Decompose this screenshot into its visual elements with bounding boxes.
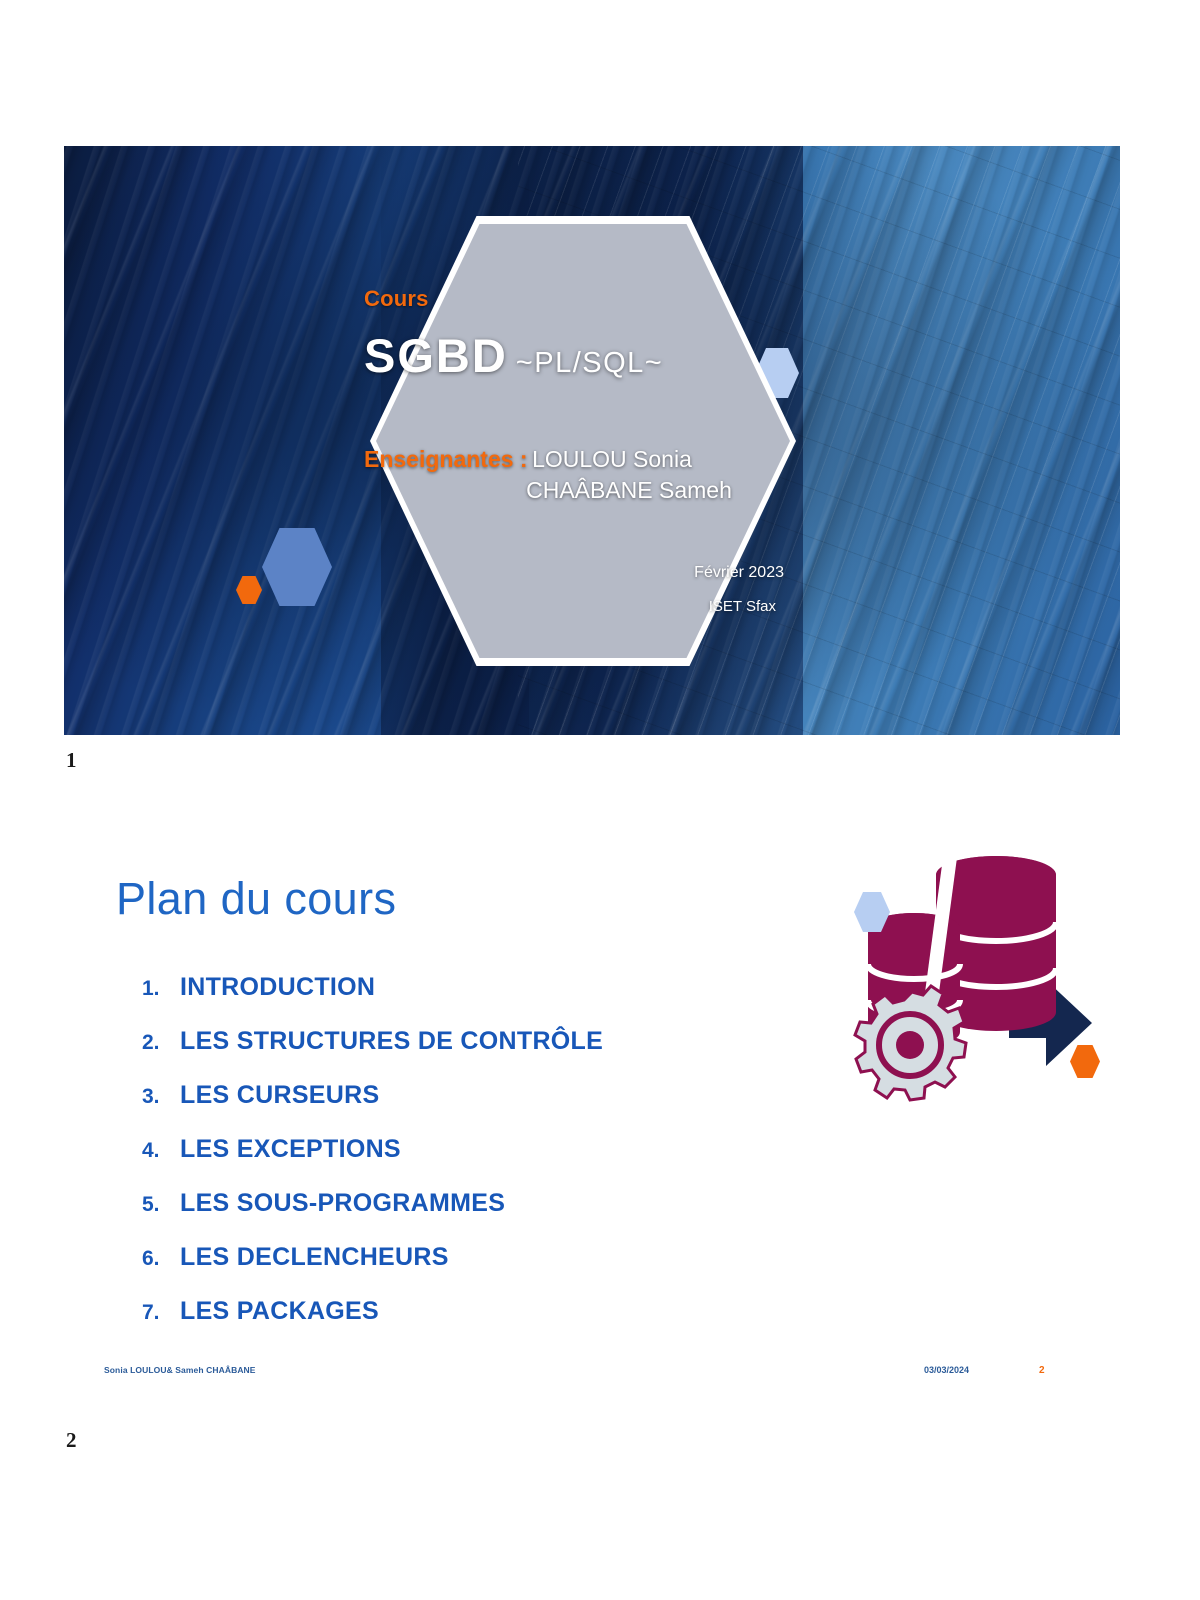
plan-slide: Plan du cours 1. INTRODUCTION 2. LES STR…	[64, 795, 1120, 1395]
list-item-number: 2.	[142, 1031, 180, 1055]
list-item-number: 4.	[142, 1139, 180, 1163]
list-item[interactable]: 3. LES CURSEURS	[142, 1081, 782, 1110]
institution-name: ISET Sfax	[494, 598, 784, 615]
list-item-number: 5.	[142, 1193, 180, 1217]
page-title: Plan du cours	[116, 873, 396, 925]
list-item-label: INTRODUCTION	[180, 973, 375, 1002]
list-item[interactable]: 2. LES STRUCTURES DE CONTRÔLE	[142, 1027, 782, 1056]
handout-page: Cours SGBD~PL/SQL~ Enseignantes : LOULOU…	[0, 0, 1200, 1600]
course-date: Février 2023	[494, 564, 784, 582]
list-item-label: LES STRUCTURES DE CONTRÔLE	[180, 1027, 603, 1056]
course-title-sub: ~PL/SQL~	[516, 347, 663, 379]
list-item[interactable]: 1. INTRODUCTION	[142, 973, 782, 1002]
list-item[interactable]: 7. LES PACKAGES	[142, 1297, 782, 1326]
list-item-label: LES SOUS-PROGRAMMES	[180, 1189, 505, 1218]
course-title: SGBD~PL/SQL~	[364, 328, 844, 383]
page-label-2: 2	[66, 1428, 77, 1453]
course-title-main: SGBD	[364, 329, 508, 382]
teachers-label: Enseignantes :	[364, 446, 528, 472]
teacher-name-1: LOULOU Sonia	[532, 446, 692, 472]
title-slide: Cours SGBD~PL/SQL~ Enseignantes : LOULOU…	[64, 146, 1120, 735]
list-item-label: LES DECLENCHEURS	[180, 1243, 449, 1272]
list-item-label: LES PACKAGES	[180, 1297, 379, 1326]
teacher-name-2: CHAÂBANE Sameh	[364, 477, 834, 504]
footer-authors: Sonia LOULOU& Sameh CHAÂBANE	[104, 1365, 256, 1375]
list-item-label: LES EXCEPTIONS	[180, 1135, 401, 1164]
slide-footer: Sonia LOULOU& Sameh CHAÂBANE 03/03/2024 …	[64, 1360, 1120, 1390]
list-item-label: LES CURSEURS	[180, 1081, 379, 1110]
footer-page-number: 2	[1039, 1365, 1045, 1376]
course-kicker: Cours	[364, 286, 844, 312]
list-item[interactable]: 5. LES SOUS-PROGRAMMES	[142, 1189, 782, 1218]
list-item[interactable]: 4. LES EXCEPTIONS	[142, 1135, 782, 1164]
list-item-number: 1.	[142, 977, 180, 1001]
slide-meta-block: Février 2023 ISET Sfax	[494, 564, 784, 615]
list-item-number: 3.	[142, 1085, 180, 1109]
page-label-1: 1	[66, 748, 77, 773]
title-block: Cours SGBD~PL/SQL~	[364, 286, 844, 383]
database-gear-arrow-illustration	[824, 840, 1104, 1105]
list-item-number: 6.	[142, 1247, 180, 1271]
list-item[interactable]: 6. LES DECLENCHEURS	[142, 1243, 782, 1272]
database-illustration-svg	[824, 840, 1104, 1105]
teachers-block: Enseignantes : LOULOU Sonia CHAÂBANE Sam…	[364, 446, 834, 504]
list-item-number: 7.	[142, 1301, 180, 1325]
footer-date: 03/03/2024	[924, 1365, 969, 1375]
plan-list: 1. INTRODUCTION 2. LES STRUCTURES DE CON…	[142, 973, 782, 1351]
